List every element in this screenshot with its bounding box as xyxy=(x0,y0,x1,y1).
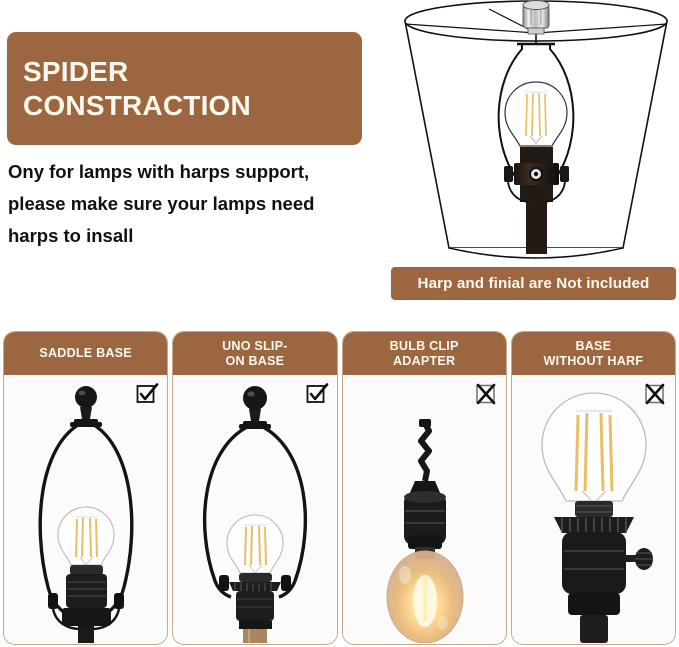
pendant-socket-art xyxy=(343,375,506,644)
card-bulb-clip-adapter[interactable]: BULB CLIP ADAPTER xyxy=(342,331,507,645)
card-base-without-harf[interactable]: BASE WITHOUT HARF xyxy=(511,331,676,645)
card-header: UNO SLIP- ON BASE xyxy=(173,332,336,375)
card-saddle-base[interactable]: SADDLE BASE xyxy=(3,331,168,645)
card-body xyxy=(512,375,675,644)
saddle-base-art xyxy=(4,375,167,644)
note-banner-label: Harp and finial are Not included xyxy=(418,275,650,292)
card-title: SADDLE BASE xyxy=(39,346,131,361)
card-header: BASE WITHOUT HARF xyxy=(512,332,675,375)
socket-without-harp-art xyxy=(512,375,675,644)
card-body xyxy=(343,375,506,644)
hero-description: Ony for lamps with harps support, please… xyxy=(8,156,338,253)
infographic-root: SPIDER CONSTRACTION Ony for lamps with h… xyxy=(0,0,679,647)
hero-banner: SPIDER CONSTRACTION xyxy=(7,32,362,145)
card-title: BASE WITHOUT HARF xyxy=(544,339,644,369)
note-banner: Harp and finial are Not included xyxy=(391,267,676,300)
card-header: SADDLE BASE xyxy=(4,332,167,375)
lamp-shade-svg xyxy=(393,0,679,262)
hero-title: SPIDER CONSTRACTION xyxy=(23,55,251,121)
card-header: BULB CLIP ADAPTER xyxy=(343,332,506,375)
card-body xyxy=(173,375,336,644)
uno-slip-on-base-art xyxy=(173,375,336,644)
lamp-shade-illustration xyxy=(393,0,679,262)
card-title: UNO SLIP- ON BASE xyxy=(222,339,287,369)
card-title: BULB CLIP ADAPTER xyxy=(390,339,459,369)
card-uno-slip-on-base[interactable]: UNO SLIP- ON BASE xyxy=(172,331,337,645)
base-type-cards: SADDLE BASE xyxy=(0,331,679,647)
card-body xyxy=(4,375,167,644)
